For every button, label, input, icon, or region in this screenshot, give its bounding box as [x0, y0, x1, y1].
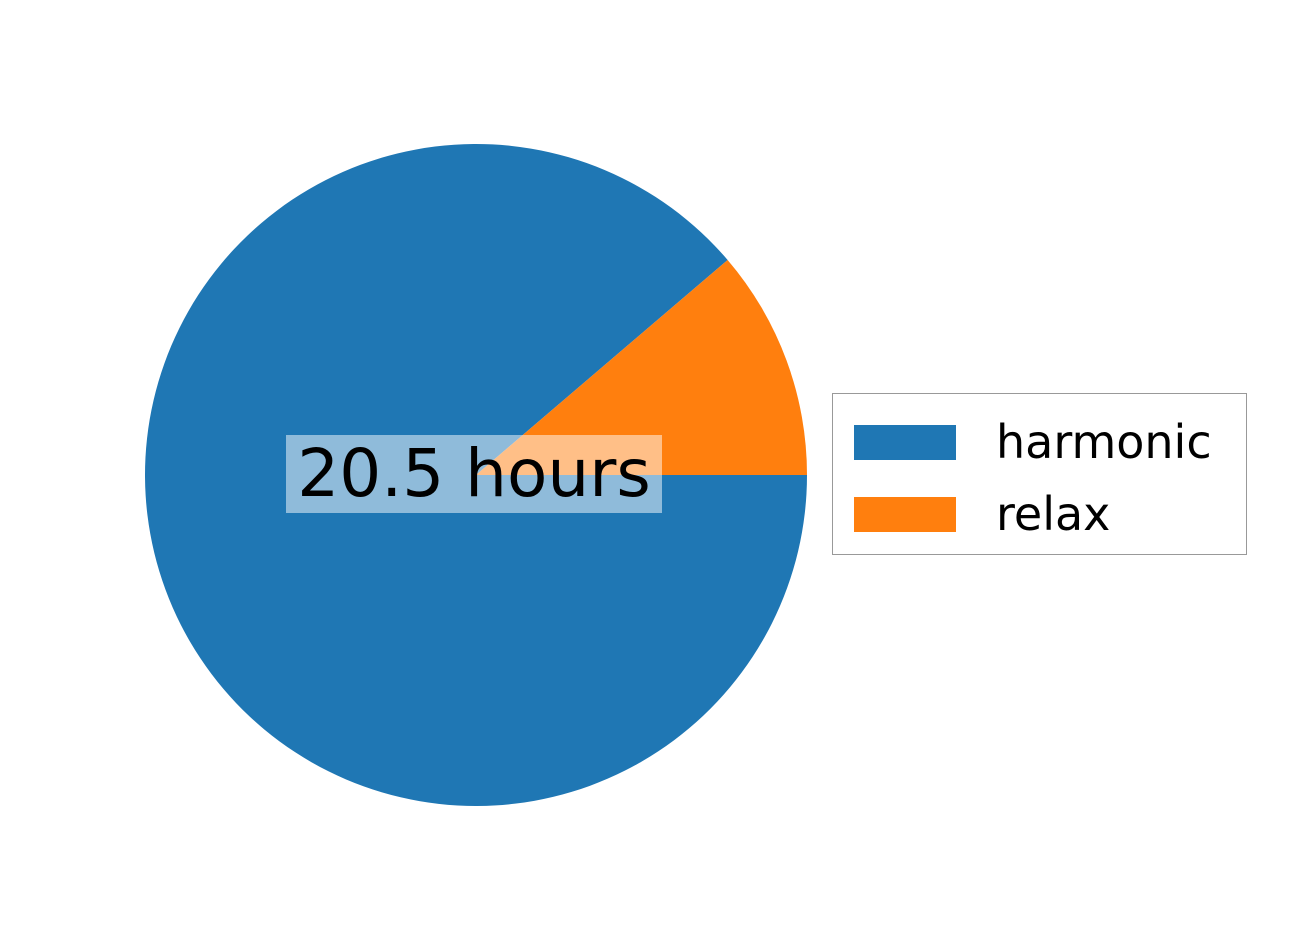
legend-label-harmonic: harmonic	[996, 419, 1212, 465]
pie-slice-label-harmonic: 20.5 hours	[286, 435, 662, 513]
legend: harmonic relax	[832, 393, 1247, 555]
legend-label-relax: relax	[996, 491, 1110, 537]
legend-entry-relax[interactable]: relax	[854, 491, 1110, 537]
pie-chart-figure: 20.5 hours harmonic relax	[0, 0, 1307, 951]
legend-entry-harmonic[interactable]: harmonic	[854, 419, 1212, 465]
legend-color-swatch-harmonic	[854, 425, 956, 460]
legend-color-swatch-relax	[854, 497, 956, 532]
